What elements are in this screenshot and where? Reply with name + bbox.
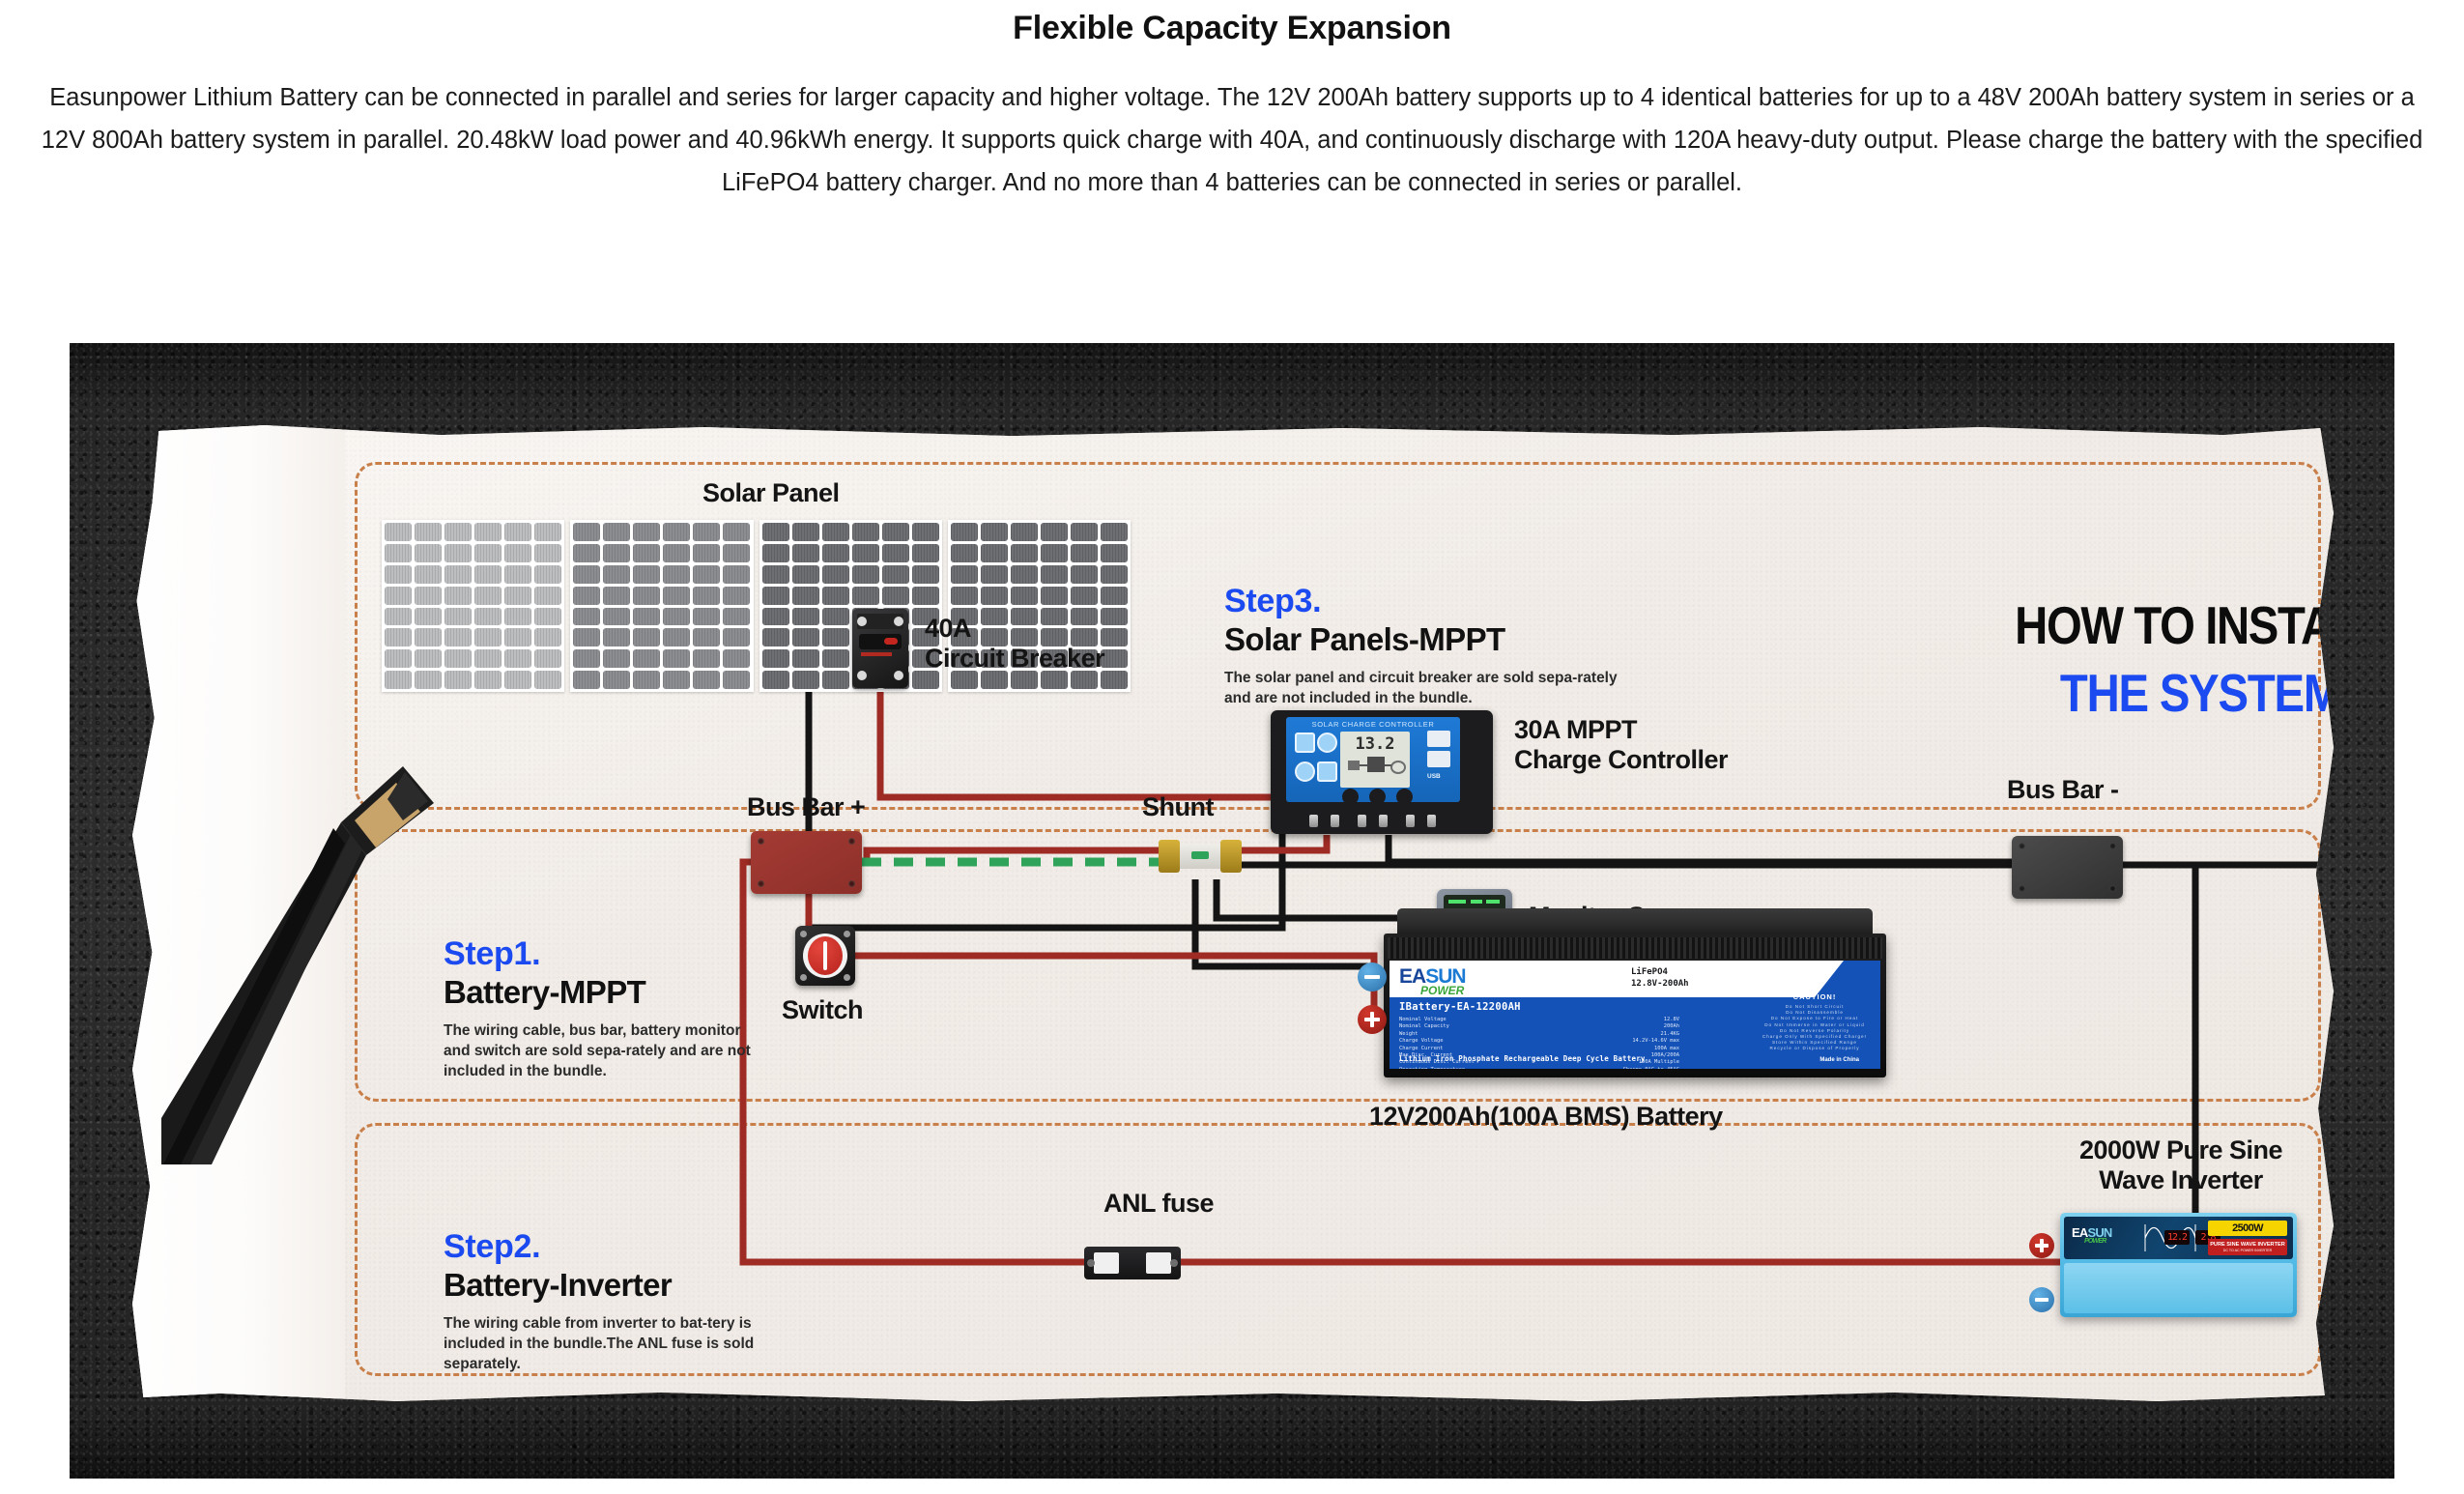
poster-stage: Solar Panel 40A Circuit Breaker SOLAR CH… bbox=[70, 343, 2394, 1479]
inverter-red-title: PURE SINE WAVE INVERTER bbox=[2210, 1242, 2285, 1248]
controller-button-up[interactable] bbox=[1369, 789, 1386, 805]
battery-spec-row: Charge Current100A max bbox=[1399, 1046, 1679, 1052]
battery-caution-line: Do Not Expose to Fire or Heat bbox=[1757, 1016, 1873, 1021]
step3-description: The solar panel and circuit breaker are … bbox=[1224, 668, 1640, 708]
battery-caution-title: CAUTION! bbox=[1757, 992, 1873, 1001]
controller-lcd: 13.2 bbox=[1340, 732, 1410, 788]
how-to-install-heading: HOW TO INSTALL THE SYSTEM bbox=[1973, 594, 2394, 724]
battery-chemistry: LiFePO4 12.8V-200Ah bbox=[1631, 966, 1689, 990]
controller-title: SOLAR CHARGE CONTROLLER bbox=[1286, 720, 1460, 729]
battery-spec-row: Nominal Capacity200Ah bbox=[1399, 1023, 1679, 1030]
usb-port-icon bbox=[1427, 731, 1450, 747]
intro-paragraph: Easunpower Lithium Battery can be connec… bbox=[34, 76, 2430, 204]
step2-heading: Battery-Inverter bbox=[444, 1268, 782, 1303]
inverter-type-badge: PURE SINE WAVE INVERTER DC TO AC POWER I… bbox=[2208, 1239, 2287, 1255]
battery-spec-row: Charge Voltage14.2V-14.6V max bbox=[1399, 1038, 1679, 1045]
pure-sine-wave-inverter-device: EASUN POWER 12.2 2.8 2500W PURE SINE WAV… bbox=[2060, 1213, 2297, 1317]
charge-controller-label: 30A MPPT Charge Controller bbox=[1514, 715, 1728, 775]
inverter-label: 2000W Pure Sine Wave Inverter bbox=[2002, 1135, 2360, 1195]
circuit-breaker-label: 40A Circuit Breaker bbox=[925, 614, 1104, 674]
controller-faceplate: SOLAR CHARGE CONTROLLER 13.2 USB bbox=[1286, 717, 1460, 802]
battery-spec-row: Nominal Voltage12.8V bbox=[1399, 1017, 1679, 1023]
inverter-display-left: 12.2 bbox=[2164, 1230, 2190, 1245]
controller-button-down[interactable] bbox=[1396, 789, 1413, 805]
battery-caution-line: Do Not Immerse in Water or Liquid bbox=[1757, 1022, 1873, 1028]
mppt-charge-controller-device: SOLAR CHARGE CONTROLLER 13.2 USB bbox=[1271, 710, 1493, 834]
step1-text-block: Step1. Battery-MPPT The wiring cable, bu… bbox=[444, 937, 767, 1081]
battery-brand-power: POWER bbox=[1420, 985, 1466, 996]
battery-brand-logo: EASUN POWER bbox=[1399, 966, 1466, 996]
solar-panel-1 bbox=[382, 520, 564, 692]
battery-footer-text: Lithium Iron Phosphate Rechargeable Deep… bbox=[1399, 1054, 1646, 1063]
battery-label-text: 12V200Ah(100A BMS) Battery bbox=[1369, 1102, 1723, 1132]
switch-label: Switch bbox=[782, 995, 863, 1025]
step3-number: Step3. bbox=[1224, 585, 1678, 619]
battery-label: EASUN POWER LiFePO4 12.8V-200Ah IBattery… bbox=[1390, 961, 1880, 1069]
shunt-device bbox=[1157, 836, 1244, 880]
battery-positive-terminal bbox=[1358, 1005, 1387, 1034]
torn-paper-sheet: Solar Panel 40A Circuit Breaker SOLAR CH… bbox=[132, 425, 2334, 1401]
anl-fuse-label: ANL fuse bbox=[1103, 1189, 1214, 1219]
battery-switch-device[interactable] bbox=[795, 926, 855, 986]
battery-chem-line1: LiFePO4 bbox=[1631, 966, 1689, 978]
inverter-brand-logo: EASUN POWER bbox=[2072, 1226, 2112, 1245]
shunt-label: Shunt bbox=[1142, 792, 1214, 822]
inverter-wattage-badge: 2500W bbox=[2208, 1221, 2287, 1236]
battery-made-in: Made in China bbox=[1819, 1057, 1859, 1063]
battery-negative-terminal bbox=[1358, 962, 1387, 991]
battery-caution-block: △ CAUTION! Do Not Short CircuitDo Not Di… bbox=[1757, 982, 1873, 1052]
step2-number: Step2. bbox=[444, 1230, 782, 1265]
solar-panel-2 bbox=[570, 520, 753, 692]
clock-icon bbox=[1295, 761, 1315, 782]
step2-description: The wiring cable from inverter to bat-te… bbox=[444, 1313, 782, 1374]
battery-chem-line2: 12.8V-200Ah bbox=[1631, 978, 1689, 990]
battery-spec-row: Operating TemperatureCharge 0°C to 45°C bbox=[1399, 1067, 1679, 1069]
step2-text-block: Step2. Battery-Inverter The wiring cable… bbox=[444, 1230, 782, 1374]
solar-panel-3 bbox=[759, 520, 942, 692]
inverter-red-sub: DC TO AC POWER INVERTER bbox=[2208, 1249, 2287, 1253]
battery-caution-line: Recycle or Dispose of Properly bbox=[1757, 1046, 1873, 1051]
battery-model: IBattery-EA-12200AH bbox=[1399, 1001, 1521, 1013]
mode-icon bbox=[1295, 733, 1315, 753]
step3-heading: Solar Panels-MPPT bbox=[1224, 622, 1678, 657]
battery-spec-row: Weight21.4KG bbox=[1399, 1031, 1679, 1038]
usb-port-icon bbox=[1427, 751, 1450, 767]
controller-voltage-reading: 13.2 bbox=[1340, 734, 1410, 754]
step1-number: Step1. bbox=[444, 937, 767, 972]
solar-panel-label: Solar Panel bbox=[702, 478, 840, 508]
usb-label: USB bbox=[1427, 773, 1441, 780]
bus-bar-negative-label: Bus Bar - bbox=[2007, 775, 2119, 805]
bus-bar-negative-device bbox=[2012, 836, 2123, 899]
anl-fuse-device bbox=[1084, 1247, 1181, 1279]
bus-bar-positive-device bbox=[751, 831, 862, 894]
controller-button-menu[interactable] bbox=[1342, 789, 1359, 805]
step1-heading: Battery-MPPT bbox=[444, 975, 767, 1010]
how-to-install-line1: HOW TO INSTALL bbox=[2005, 594, 2394, 656]
page-title: Flexible Capacity Expansion bbox=[0, 10, 2464, 47]
step1-description: The wiring cable, bus bar, battery monit… bbox=[444, 1020, 767, 1081]
inverter-negative-terminal bbox=[2029, 1287, 2054, 1312]
how-to-install-line2: THE SYSTEM bbox=[2005, 662, 2394, 724]
battery-caution-lines: Do Not Short CircuitDo Not DisassembleDo… bbox=[1757, 1004, 1873, 1052]
bus-bar-positive-label: Bus Bar + bbox=[747, 792, 865, 822]
circuit-breaker-device bbox=[852, 609, 908, 688]
step3-text-block: Step3. Solar Panels-MPPT The solar panel… bbox=[1224, 585, 1678, 708]
inverter-front-panel: EASUN POWER 12.2 2.8 2500W PURE SINE WAV… bbox=[2064, 1217, 2293, 1259]
lithium-battery-device: EASUN POWER LiFePO4 12.8V-200Ah IBattery… bbox=[1384, 908, 1886, 1077]
page-header: Flexible Capacity Expansion Easunpower L… bbox=[0, 0, 2464, 204]
lock-icon bbox=[1317, 761, 1337, 782]
inverter-positive-terminal bbox=[2029, 1233, 2054, 1258]
gear-icon bbox=[1317, 733, 1337, 753]
